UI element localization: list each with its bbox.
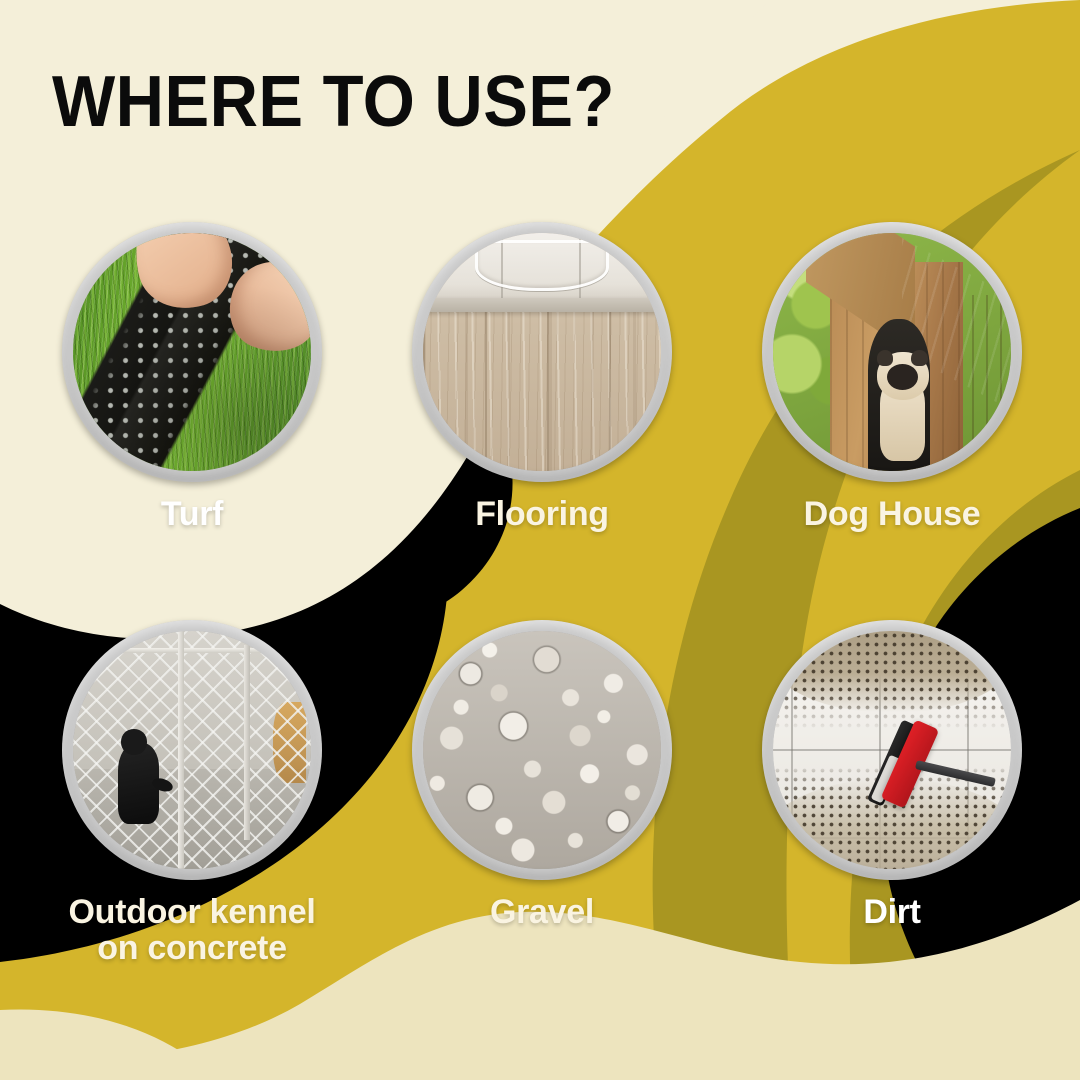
- use-case-label-dirt: Dirt: [762, 894, 1022, 930]
- use-case-label-turf: Turf: [62, 496, 322, 532]
- use-case-card-dog-house[interactable]: Dog House: [762, 222, 1022, 532]
- use-case-card-outdoor-kennel[interactable]: Outdoor kennel on concrete: [62, 620, 322, 966]
- pug-muzzle: [887, 364, 918, 390]
- photo-ring-outdoor-kennel: [62, 620, 322, 880]
- kennel-post-center: [178, 631, 185, 869]
- photo-gravel: [423, 631, 661, 869]
- flooring-baseboard: [423, 298, 661, 311]
- kennel-post-right: [244, 645, 249, 840]
- turf-shading-layer: [73, 233, 311, 471]
- kennel-dog-head: [121, 729, 147, 755]
- photo-dirt: [773, 631, 1011, 869]
- use-case-card-dirt[interactable]: Dirt: [762, 620, 1022, 930]
- use-case-label-gravel: Gravel: [412, 894, 672, 930]
- photo-flooring: [423, 233, 661, 471]
- photo-ring-turf: [62, 222, 322, 482]
- photo-ring-dog-house: [762, 222, 1022, 482]
- use-case-label-dog-house: Dog House: [762, 496, 1022, 532]
- page-title: WHERE TO USE?: [52, 66, 615, 138]
- pug-ear-right: [911, 350, 928, 367]
- photo-turf: [73, 233, 311, 471]
- use-case-card-turf[interactable]: Turf: [62, 222, 322, 532]
- infographic-canvas: WHERE TO USE? Turf: [0, 0, 1080, 1080]
- flooring-cabinet-panel: [475, 240, 608, 291]
- photo-ring-flooring: [412, 222, 672, 482]
- photo-ring-dirt: [762, 620, 1022, 880]
- kennel-chain-link-layer: [73, 631, 311, 869]
- kennel-top-rail: [73, 648, 311, 654]
- use-case-label-flooring: Flooring: [412, 496, 672, 532]
- use-case-card-flooring[interactable]: Flooring: [412, 222, 672, 532]
- use-case-card-gravel[interactable]: Gravel: [412, 620, 672, 930]
- gravel-small-stones-layer: [423, 631, 661, 869]
- use-case-label-outdoor-kennel: Outdoor kennel on concrete: [62, 894, 322, 966]
- photo-outdoor-kennel: [73, 631, 311, 869]
- pug-ear-left: [877, 350, 894, 367]
- photo-dog-house: [773, 233, 1011, 471]
- photo-ring-gravel: [412, 620, 672, 880]
